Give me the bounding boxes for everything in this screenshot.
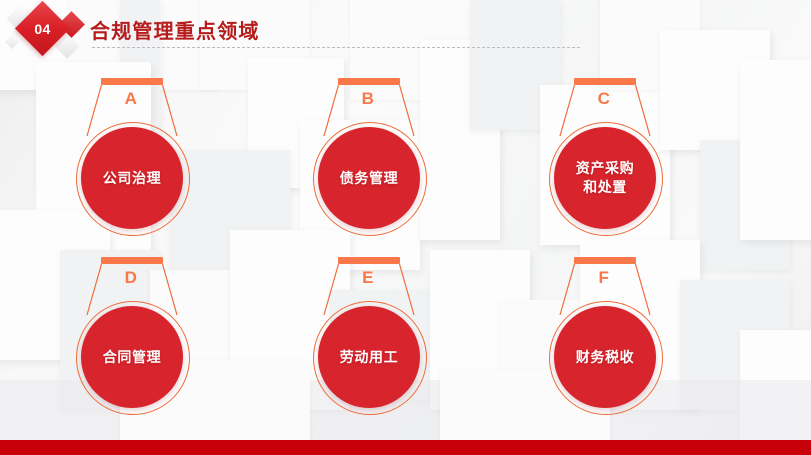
slide-canvas: 04 合规管理重点领域 A 公司治理 B 债务管理 [0,0,811,455]
topic-letter: A [51,89,211,109]
flask-bulb: 劳动用工 [318,306,420,408]
topic-item-f[interactable]: F 财务税收 [524,257,684,432]
flask-bulb: 财务税收 [554,306,656,408]
topic-label: 资产采购和处置 [576,159,634,197]
topic-letter: E [288,268,448,288]
flask-bulb: 债务管理 [318,127,420,229]
topic-letter: C [524,89,684,109]
topic-item-d[interactable]: D 合同管理 [51,257,211,432]
diamond-badge-cluster: 04 [4,2,90,56]
section-number: 04 [23,9,62,48]
topic-item-c[interactable]: C 资产采购和处置 [524,78,684,253]
topic-label: 公司治理 [103,169,161,188]
footer-bar [0,440,811,455]
title-underline-divider [92,47,580,48]
flask-bulb: 合同管理 [81,306,183,408]
topic-letter: B [288,89,448,109]
topic-letter: D [51,268,211,288]
flask-bulb: 公司治理 [81,127,183,229]
topic-label: 债务管理 [340,169,398,188]
topic-letter: F [524,268,684,288]
page-title: 合规管理重点领域 [90,15,260,44]
topic-item-a[interactable]: A 公司治理 [51,78,211,253]
slide-header: 04 合规管理重点领域 [0,0,811,58]
topic-label: 财务税收 [576,348,634,367]
topic-label: 合同管理 [103,348,161,367]
flask-bulb: 资产采购和处置 [554,127,656,229]
topic-label: 劳动用工 [340,348,398,367]
topic-item-e[interactable]: E 劳动用工 [288,257,448,432]
topic-item-b[interactable]: B 债务管理 [288,78,448,253]
diamond-decor-icon [5,35,19,49]
